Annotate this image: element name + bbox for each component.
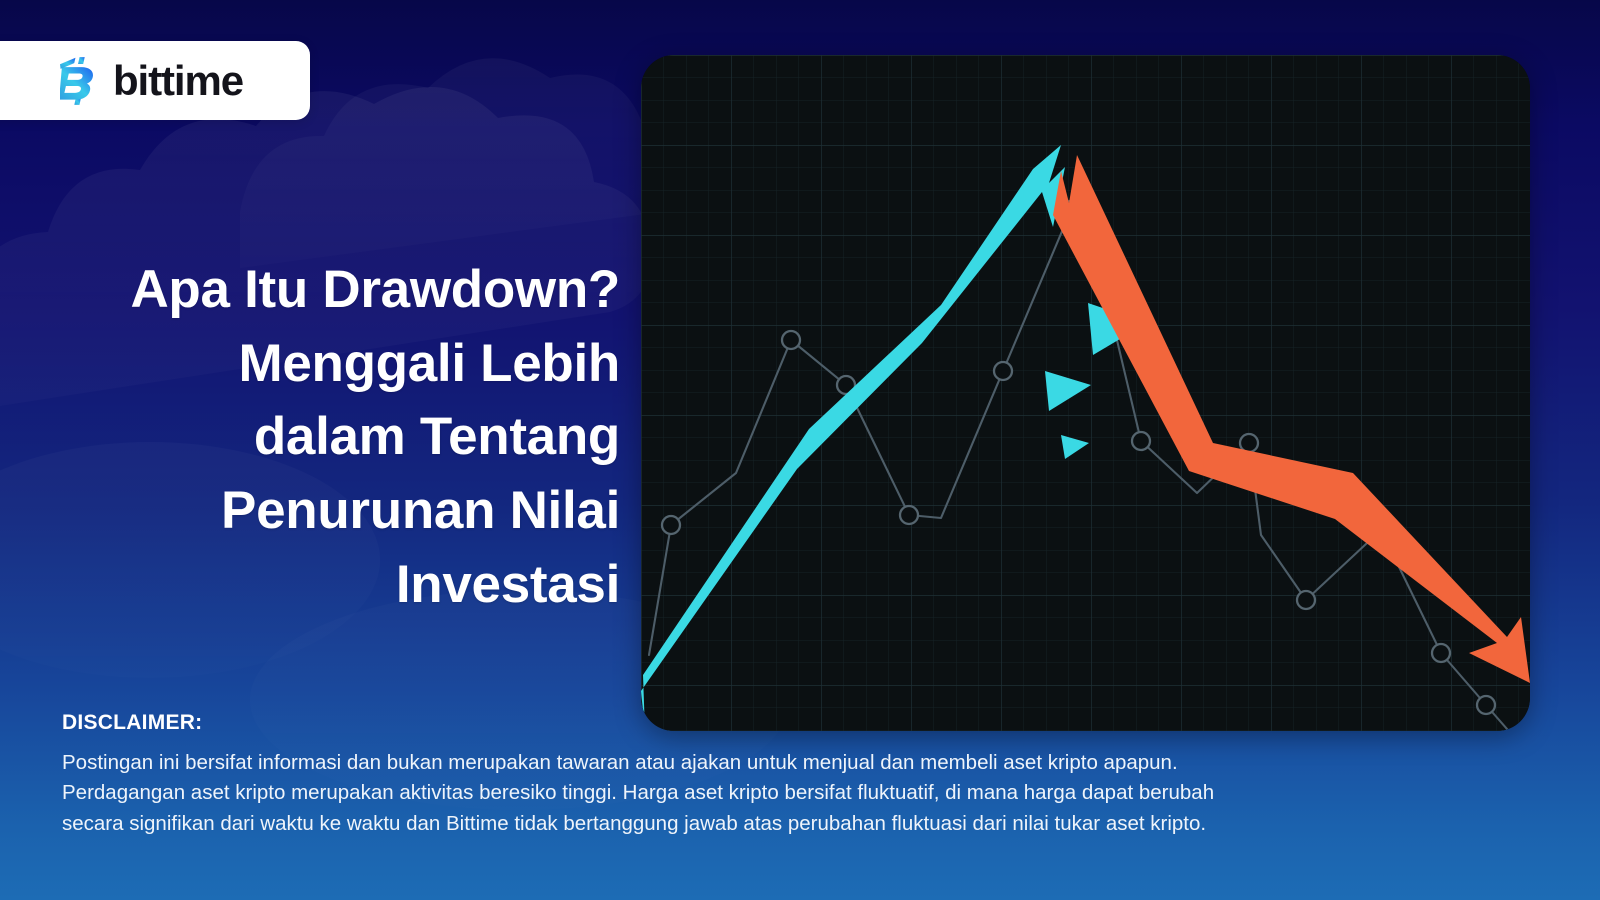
disclaimer-body: Postingan ini bersifat informasi dan buk…: [62, 748, 1482, 839]
headline-line-1: Apa Itu Drawdown?: [40, 253, 620, 327]
page-title: Apa Itu Drawdown? Menggali Lebih dalam T…: [40, 253, 620, 621]
chart-panel: [641, 55, 1530, 731]
chart-grid-bold: [641, 55, 1530, 731]
brand-wordmark: bittime: [113, 60, 243, 102]
disclaimer-line-3: secara signifikan dari waktu ke waktu da…: [62, 809, 1482, 839]
disclaimer-block: DISCLAIMER: Postingan ini bersifat infor…: [62, 711, 1482, 839]
disclaimer-line-2: Perdagangan aset kripto merupakan aktivi…: [62, 778, 1482, 808]
disclaimer-line-1: Postingan ini bersifat informasi dan buk…: [62, 748, 1482, 778]
headline-line-4: Penurunan Nilai: [40, 474, 620, 548]
brand-logo-badge[interactable]: bittime: [0, 41, 310, 120]
bittime-b-logo-icon: [60, 57, 102, 105]
headline-line-2: Menggali Lebih: [40, 327, 620, 401]
disclaimer-title: DISCLAIMER:: [62, 711, 1482, 735]
headline-line-3: dalam Tentang: [40, 400, 620, 474]
headline-line-5: Investasi: [40, 548, 620, 622]
poster-canvas: bittime Apa Itu Drawdown? Menggali Lebih…: [0, 0, 1600, 900]
drawdown-chart: [641, 55, 1530, 731]
